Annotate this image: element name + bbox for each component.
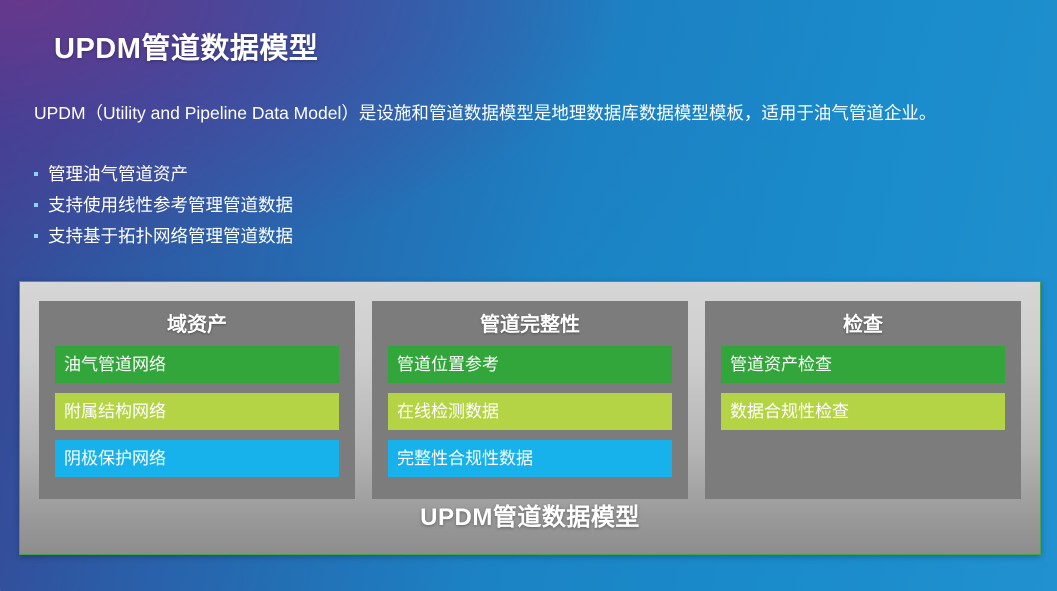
bullet-dot-icon bbox=[34, 234, 38, 238]
intro-paragraph: UPDM（Utility and Pipeline Data Model）是设施… bbox=[34, 100, 999, 126]
diagram-item[interactable]: 阴极保护网络 bbox=[55, 440, 339, 477]
diagram-caption: UPDM管道数据模型 bbox=[20, 497, 1040, 532]
diagram-column-pipeline-integrity: 管道完整性 管道位置参考 在线检测数据 完整性合规性数据 bbox=[372, 301, 688, 499]
diagram-item[interactable]: 数据合规性检查 bbox=[721, 393, 1005, 430]
diagram-item[interactable]: 在线检测数据 bbox=[388, 393, 672, 430]
diagram-item[interactable]: 完整性合规性数据 bbox=[388, 440, 672, 477]
page-title: UPDM管道数据模型 bbox=[54, 25, 318, 67]
column-item-list: 油气管道网络 附属结构网络 阴极保护网络 bbox=[55, 346, 339, 487]
diagram-item[interactable]: 油气管道网络 bbox=[55, 346, 339, 383]
column-item-list: 管道资产检查 数据合规性检查 bbox=[721, 346, 1005, 440]
bullet-label: 支持基于拓扑网络管理管道数据 bbox=[48, 225, 293, 247]
diagram-frame: 域资产 油气管道网络 附属结构网络 阴极保护网络 管道完整性 管道位置参考 在线… bbox=[19, 281, 1041, 555]
bullet-dot-icon bbox=[34, 203, 38, 207]
list-item: 管理油气管道资产 bbox=[34, 158, 734, 189]
diagram-column-inspection: 检查 管道资产检查 数据合规性检查 bbox=[705, 301, 1021, 499]
diagram-item[interactable]: 管道位置参考 bbox=[388, 346, 672, 383]
bullet-list: 管理油气管道资产 支持使用线性参考管理管道数据 支持基于拓扑网络管理管道数据 bbox=[34, 158, 734, 251]
slide-canvas: UPDM管道数据模型 UPDM（Utility and Pipeline Dat… bbox=[0, 0, 1057, 591]
bullet-label: 支持使用线性参考管理管道数据 bbox=[48, 194, 293, 216]
column-title: 域资产 bbox=[55, 310, 339, 340]
bullet-dot-icon bbox=[34, 172, 38, 176]
diagram-column-domain-assets: 域资产 油气管道网络 附属结构网络 阴极保护网络 bbox=[39, 301, 355, 499]
diagram-columns: 域资产 油气管道网络 附属结构网络 阴极保护网络 管道完整性 管道位置参考 在线… bbox=[39, 301, 1021, 499]
column-title: 管道完整性 bbox=[388, 310, 672, 340]
diagram-item[interactable]: 附属结构网络 bbox=[55, 393, 339, 430]
column-item-list: 管道位置参考 在线检测数据 完整性合规性数据 bbox=[388, 346, 672, 487]
list-item: 支持使用线性参考管理管道数据 bbox=[34, 189, 734, 220]
list-item: 支持基于拓扑网络管理管道数据 bbox=[34, 220, 734, 251]
column-title: 检查 bbox=[721, 310, 1005, 340]
diagram-item[interactable]: 管道资产检查 bbox=[721, 346, 1005, 383]
bullet-label: 管理油气管道资产 bbox=[48, 163, 188, 185]
